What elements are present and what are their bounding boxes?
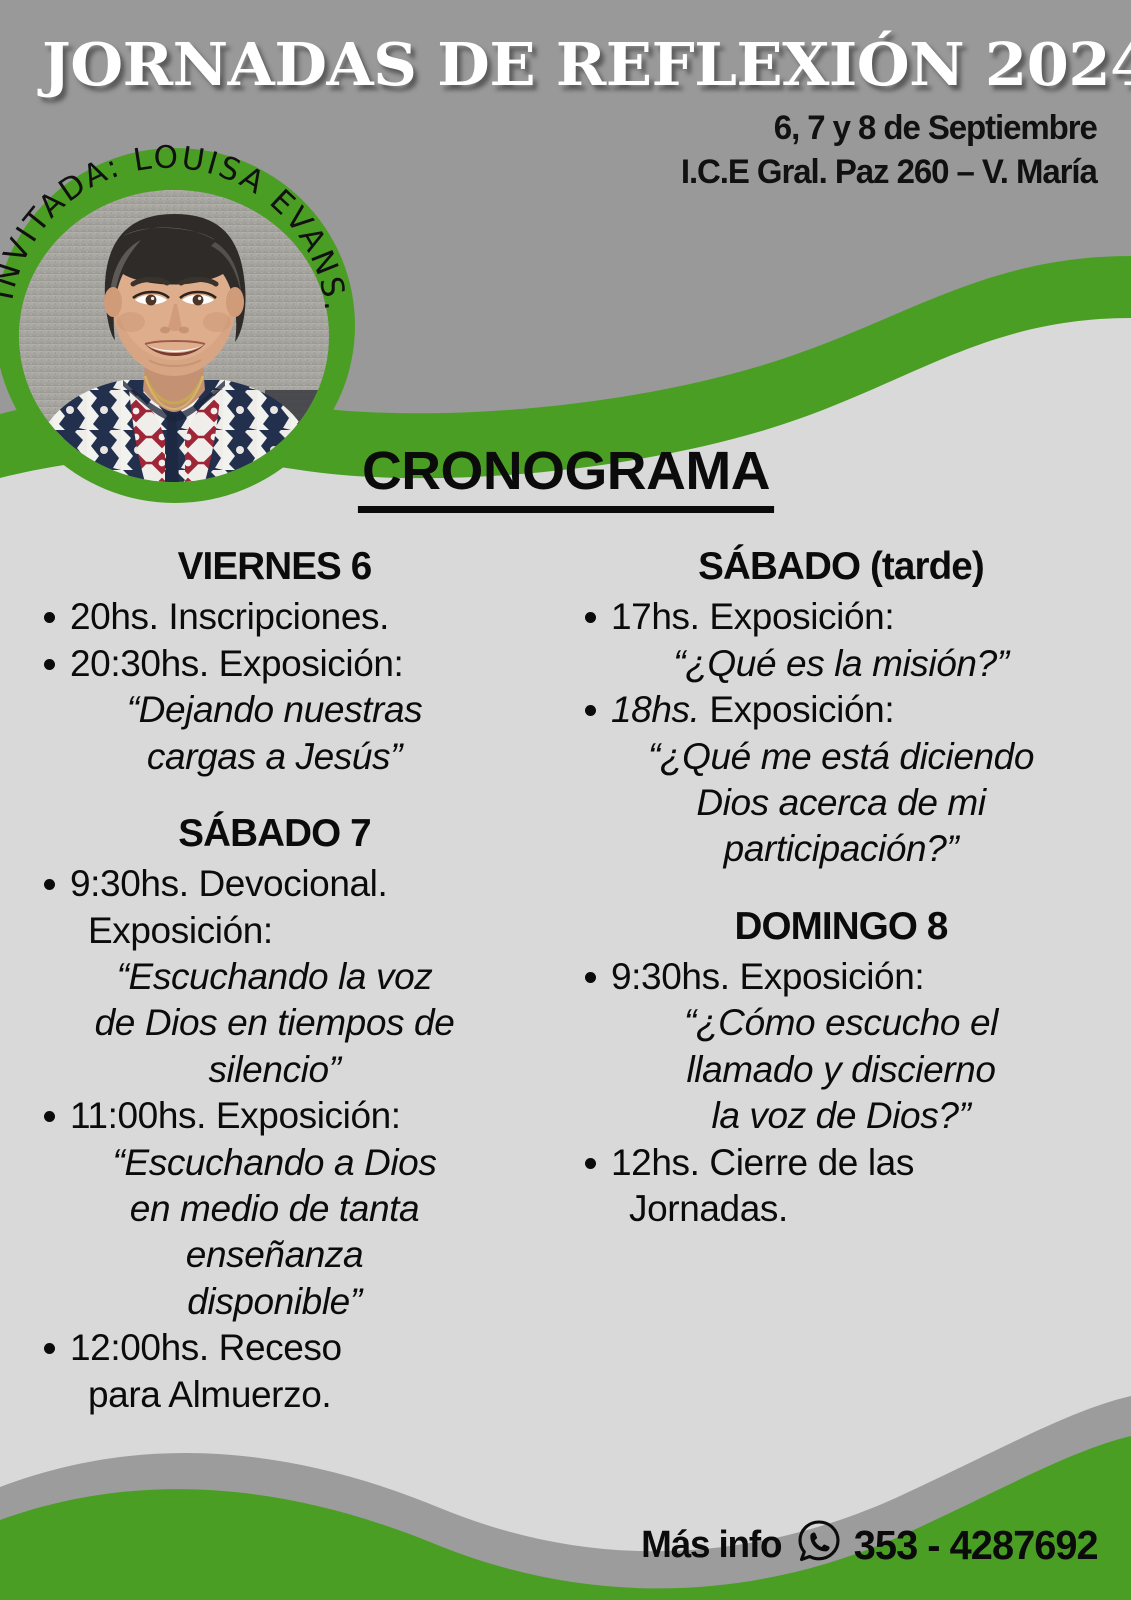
list-item: “Escuchando a Dios bbox=[26, 1141, 523, 1185]
list-item: 20:30hs. Exposición: bbox=[26, 642, 523, 686]
poster-footer: Más info 353 - 4287692 bbox=[0, 1490, 1131, 1600]
list-item: “Dejando nuestras bbox=[26, 688, 523, 732]
item-quote: en medio de tanta bbox=[26, 1187, 523, 1231]
list-item: en medio de tanta bbox=[26, 1187, 523, 1231]
event-venue: I.C.E Gral. Paz 260 – V. María bbox=[681, 150, 1097, 194]
item-text: 12hs. Cierre de las bbox=[567, 1141, 1115, 1185]
day-block-domingo: DOMINGO 8 9:30hs. Exposición: “¿Cómo esc… bbox=[567, 906, 1115, 1232]
schedule-heading: CRONOGRAMA bbox=[357, 440, 773, 513]
day-block-sabado7: SÁBADO 7 9:30hs. Devocional. Exposición:… bbox=[26, 813, 523, 1417]
day-title: SÁBADO (tarde) bbox=[570, 546, 1113, 587]
list-item: “¿Qué me está diciendo bbox=[567, 735, 1115, 779]
schedule-columns: VIERNES 6 20hs. Inscripciones. 20:30hs. … bbox=[0, 546, 1131, 1423]
item-time: 18hs. bbox=[611, 689, 700, 730]
day-title: VIERNES 6 bbox=[28, 546, 520, 587]
list-item: “¿Cómo escucho el bbox=[567, 1001, 1115, 1045]
list-item: “Escuchando la voz bbox=[26, 955, 523, 999]
item-text: 9:30hs. Exposición: bbox=[567, 955, 1115, 999]
day-items: 17hs. Exposición: “¿Qué es la misión?” 1… bbox=[567, 595, 1115, 871]
item-cont: para Almuerzo. bbox=[26, 1373, 523, 1417]
schedule-column-left: VIERNES 6 20hs. Inscripciones. 20:30hs. … bbox=[0, 546, 545, 1423]
list-item: 20hs. Inscripciones. bbox=[26, 595, 523, 639]
list-item: enseñanza bbox=[26, 1233, 523, 1277]
item-quote: participación?” bbox=[567, 827, 1115, 871]
item-text-mixed: 18hs. Exposición: bbox=[567, 688, 1115, 732]
contact-block: Más info 353 - 4287692 bbox=[639, 1519, 1101, 1572]
item-quote: cargas a Jesús” bbox=[26, 735, 523, 779]
day-items: 20hs. Inscripciones. 20:30hs. Exposición… bbox=[26, 595, 523, 779]
item-text: 12:00hs. Receso bbox=[26, 1326, 523, 1370]
poster-root: JORNADAS DE REFLEXIÓN 2024 6, 7 y 8 de S… bbox=[0, 0, 1131, 1600]
item-text: 20hs. Inscripciones. bbox=[26, 595, 523, 639]
item-cont: Exposición: bbox=[26, 909, 523, 953]
whatsapp-icon[interactable] bbox=[796, 1519, 842, 1572]
speaker-name-path: INVITADA: LOUISA EVANS. bbox=[0, 140, 354, 315]
item-cont: Jornadas. bbox=[567, 1187, 1115, 1231]
list-item: Jornadas. bbox=[567, 1187, 1115, 1231]
day-title: SÁBADO 7 bbox=[28, 813, 520, 854]
item-text: 9:30hs. Devocional. bbox=[26, 862, 523, 906]
list-item: para Almuerzo. bbox=[26, 1373, 523, 1417]
list-item: “¿Qué es la misión?” bbox=[567, 642, 1115, 686]
list-item: 17hs. Exposición: bbox=[567, 595, 1115, 639]
contact-phone[interactable]: 353 - 4287692 bbox=[853, 1522, 1097, 1569]
list-item: 18hs. Exposición: bbox=[567, 688, 1115, 732]
list-item: 9:30hs. Devocional. bbox=[26, 862, 523, 906]
day-items: 9:30hs. Devocional. Exposición: “Escucha… bbox=[26, 862, 523, 1417]
event-dates: 6, 7 y 8 de Septiembre bbox=[681, 106, 1097, 150]
list-item: 9:30hs. Exposición: bbox=[567, 955, 1115, 999]
whatsapp-glyph bbox=[796, 1519, 842, 1567]
item-quote: “¿Cómo escucho el bbox=[567, 1001, 1115, 1045]
day-title: DOMINGO 8 bbox=[570, 906, 1113, 947]
list-item: de Dios en tiempos de bbox=[26, 1001, 523, 1045]
item-quote: “Escuchando la voz bbox=[26, 955, 523, 999]
item-quote: Dios acerca de mi bbox=[567, 781, 1115, 825]
list-item: 12:00hs. Receso bbox=[26, 1326, 523, 1370]
item-text: 20:30hs. Exposición: bbox=[26, 642, 523, 686]
item-quote: llamado y discierno bbox=[567, 1048, 1115, 1092]
event-meta: 6, 7 y 8 de Septiembre I.C.E Gral. Paz 2… bbox=[668, 106, 1097, 194]
speaker-arc-text: INVITADA: LOUISA EVANS. bbox=[0, 140, 354, 315]
day-items: 9:30hs. Exposición: “¿Cómo escucho el ll… bbox=[567, 955, 1115, 1231]
item-quote: “¿Qué es la misión?” bbox=[567, 642, 1115, 686]
day-block-viernes: VIERNES 6 20hs. Inscripciones. 20:30hs. … bbox=[26, 546, 523, 779]
list-item: silencio” bbox=[26, 1048, 523, 1092]
item-quote: enseñanza bbox=[26, 1233, 523, 1277]
speaker-arc-label: INVITADA: LOUISA EVANS. bbox=[0, 148, 355, 503]
schedule-column-right: SÁBADO (tarde) 17hs. Exposición: “¿Qué e… bbox=[545, 546, 1131, 1237]
item-quote: disponible” bbox=[26, 1280, 523, 1324]
day-block-sabado-tarde: SÁBADO (tarde) 17hs. Exposición: “¿Qué e… bbox=[567, 546, 1115, 872]
item-quote: “Dejando nuestras bbox=[26, 688, 523, 732]
item-quote: la voz de Dios?” bbox=[567, 1094, 1115, 1138]
list-item: Exposición: bbox=[26, 909, 523, 953]
item-text: 11:00hs. Exposición: bbox=[26, 1094, 523, 1138]
list-item: la voz de Dios?” bbox=[567, 1094, 1115, 1138]
item-quote: “Escuchando a Dios bbox=[26, 1141, 523, 1185]
item-quote: “¿Qué me está diciendo bbox=[567, 735, 1115, 779]
list-item: Dios acerca de mi bbox=[567, 781, 1115, 825]
item-quote: de Dios en tiempos de bbox=[26, 1001, 523, 1045]
list-item: participación?” bbox=[567, 827, 1115, 871]
speaker-badge: INVITADA: LOUISA EVANS. bbox=[0, 148, 355, 503]
list-item: 12hs. Cierre de las bbox=[567, 1141, 1115, 1185]
list-item: llamado y discierno bbox=[567, 1048, 1115, 1092]
page-title: JORNADAS DE REFLEXIÓN 2024 bbox=[42, 30, 1131, 99]
list-item: 11:00hs. Exposición: bbox=[26, 1094, 523, 1138]
item-text: Exposición: bbox=[700, 689, 895, 730]
list-item: cargas a Jesús” bbox=[26, 735, 523, 779]
list-item: disponible” bbox=[26, 1280, 523, 1324]
item-quote: silencio” bbox=[26, 1048, 523, 1092]
contact-label: Más info bbox=[641, 1524, 781, 1567]
item-text: 17hs. Exposición: bbox=[567, 595, 1115, 639]
